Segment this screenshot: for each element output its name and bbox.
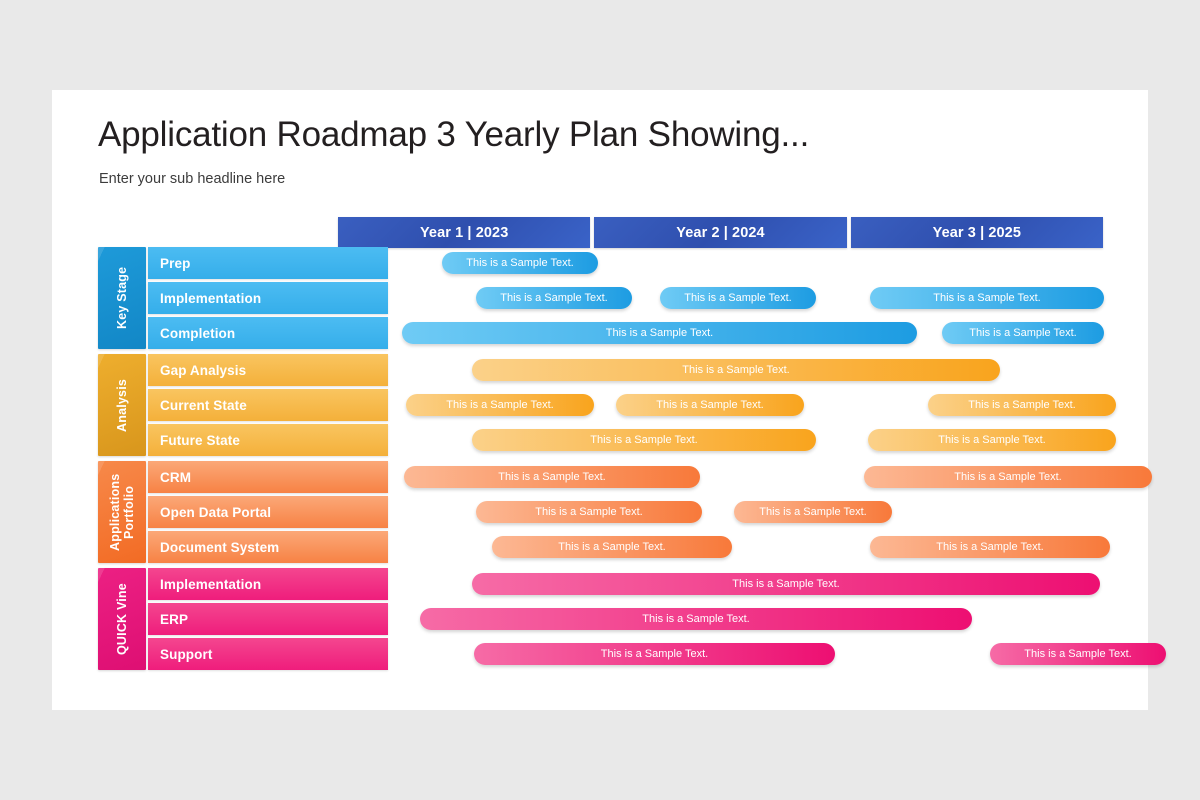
gantt-bar[interactable]: This is a Sample Text. bbox=[990, 643, 1166, 665]
gantt-bar[interactable]: This is a Sample Text. bbox=[870, 287, 1104, 309]
row-label[interactable]: Future State bbox=[148, 424, 388, 456]
gantt-bar[interactable]: This is a Sample Text. bbox=[660, 287, 816, 309]
gantt-bar[interactable]: This is a Sample Text. bbox=[472, 359, 1000, 381]
group-tab-key-stage[interactable]: Key Stage bbox=[98, 247, 146, 349]
page-subtitle: Enter your sub headline here bbox=[99, 171, 285, 187]
group-tab-label: Applications Portfolio bbox=[98, 461, 146, 563]
gantt-bar[interactable]: This is a Sample Text. bbox=[442, 252, 598, 274]
gantt-bar[interactable]: This is a Sample Text. bbox=[472, 429, 816, 451]
timeline-year-header: Year 1 | 2023Year 2 | 2024Year 3 | 2025 bbox=[338, 217, 1103, 248]
row-label[interactable]: Implementation bbox=[148, 568, 388, 600]
row-label[interactable]: CRM bbox=[148, 461, 388, 493]
gantt-bar[interactable]: This is a Sample Text. bbox=[928, 394, 1116, 416]
row-label[interactable]: ERP bbox=[148, 603, 388, 635]
row-label[interactable]: Document System bbox=[148, 531, 388, 563]
gantt-bar[interactable]: This is a Sample Text. bbox=[474, 643, 835, 665]
row-label[interactable]: Support bbox=[148, 638, 388, 670]
gantt-bar[interactable]: This is a Sample Text. bbox=[476, 501, 702, 523]
group-tab-label: Analysis bbox=[98, 354, 146, 456]
gantt-bar[interactable]: This is a Sample Text. bbox=[404, 466, 700, 488]
gantt-bar[interactable]: This is a Sample Text. bbox=[870, 536, 1110, 558]
row-label[interactable]: Prep bbox=[148, 247, 388, 279]
gantt-bar[interactable]: This is a Sample Text. bbox=[476, 287, 632, 309]
group-tab-label: QUICK Vine bbox=[98, 568, 146, 670]
row-label[interactable]: Gap Analysis bbox=[148, 354, 388, 386]
year-header-cell[interactable]: Year 1 | 2023 bbox=[338, 217, 590, 248]
group-tab-label: Key Stage bbox=[98, 247, 146, 349]
year-header-cell[interactable]: Year 2 | 2024 bbox=[594, 217, 846, 248]
gantt-bar[interactable]: This is a Sample Text. bbox=[942, 322, 1104, 344]
group-tab-analysis[interactable]: Analysis bbox=[98, 354, 146, 456]
gantt-bar[interactable]: This is a Sample Text. bbox=[472, 573, 1100, 595]
year-header-cell[interactable]: Year 3 | 2025 bbox=[851, 217, 1103, 248]
gantt-bar[interactable]: This is a Sample Text. bbox=[402, 322, 917, 344]
gantt-bar[interactable]: This is a Sample Text. bbox=[868, 429, 1116, 451]
gantt-bar[interactable]: This is a Sample Text. bbox=[616, 394, 804, 416]
slide-card: Application Roadmap 3 Yearly Plan Showin… bbox=[52, 90, 1148, 710]
gantt-bar[interactable]: This is a Sample Text. bbox=[492, 536, 732, 558]
roadmap-gantt-chart: Key StagePrepThis is a Sample Text.Imple… bbox=[98, 247, 1103, 667]
row-label[interactable]: Completion bbox=[148, 317, 388, 349]
group-tab-applications-portfolio[interactable]: Applications Portfolio bbox=[98, 461, 146, 563]
row-label[interactable]: Implementation bbox=[148, 282, 388, 314]
page-title: Application Roadmap 3 Yearly Plan Showin… bbox=[98, 115, 809, 155]
row-label[interactable]: Open Data Portal bbox=[148, 496, 388, 528]
gantt-bar[interactable]: This is a Sample Text. bbox=[420, 608, 972, 630]
gantt-bar[interactable]: This is a Sample Text. bbox=[864, 466, 1152, 488]
group-tab-quick-vine[interactable]: QUICK Vine bbox=[98, 568, 146, 670]
gantt-bar[interactable]: This is a Sample Text. bbox=[406, 394, 594, 416]
row-label[interactable]: Current State bbox=[148, 389, 388, 421]
gantt-bar[interactable]: This is a Sample Text. bbox=[734, 501, 892, 523]
